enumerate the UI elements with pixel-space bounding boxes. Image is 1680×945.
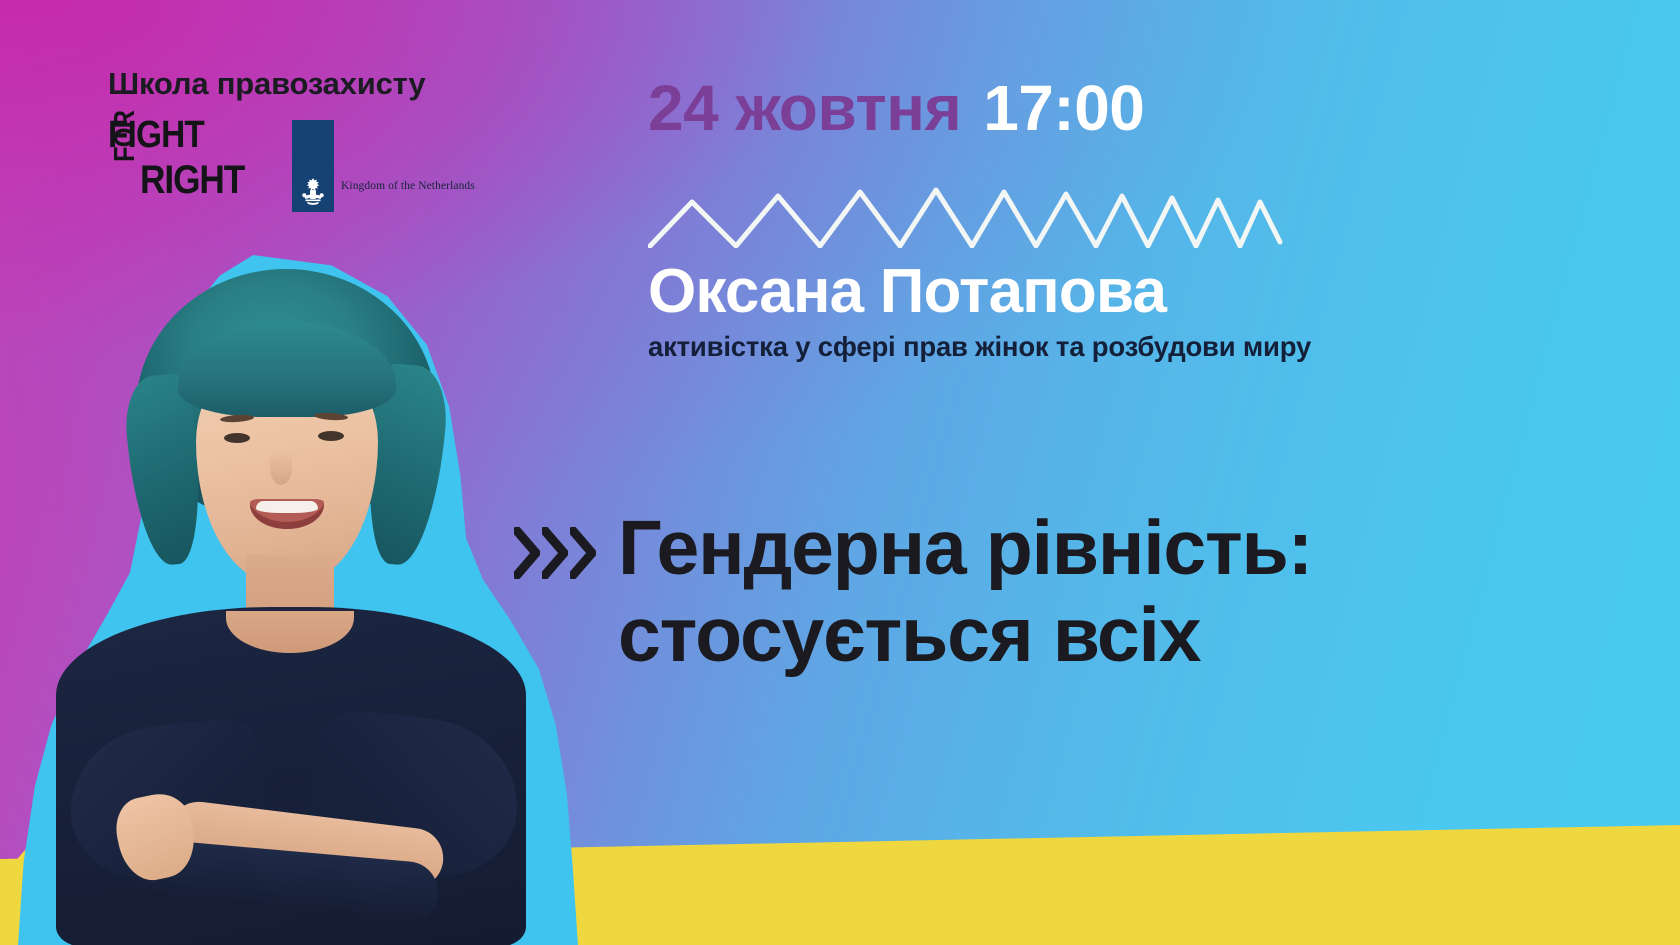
headline-line-2: стосується всіх	[618, 592, 1312, 679]
event-date: 24 жовтня	[648, 72, 961, 144]
speaker-photo	[18, 255, 578, 945]
wave-line-icon	[648, 162, 1288, 248]
logo-word-for: FOR	[111, 111, 140, 162]
event-info-column: 24 жовтня17:00 Оксана Потапова активістк…	[648, 0, 1548, 363]
chevron-right-icon	[514, 527, 540, 579]
promo-poster: Школа правозахисту FIGHT FOR RIGHT	[0, 0, 1680, 945]
wave-divider	[648, 162, 1288, 248]
netherlands-blue-bar	[292, 120, 334, 212]
logo-row: FIGHT FOR RIGHT	[108, 116, 578, 212]
event-datetime: 24 жовтня17:00	[648, 76, 1548, 140]
speaker-role: активістка у сфері прав жінок та розбудо…	[648, 331, 1548, 363]
netherlands-crest-icon	[298, 176, 328, 206]
chevrons-marker	[514, 527, 596, 579]
netherlands-logo: Kingdom of the Netherlands	[292, 120, 475, 212]
chevron-right-icon	[570, 527, 596, 579]
netherlands-label: Kingdom of the Netherlands	[341, 180, 475, 192]
logo-word-right: RIGHT	[140, 160, 244, 200]
branding-block: Школа правозахисту FIGHT FOR RIGHT	[108, 66, 578, 212]
eye-left	[224, 433, 250, 443]
headline-text: Гендерна рівність: стосується всіх	[618, 505, 1312, 679]
nose-shape	[270, 451, 292, 485]
speaker-name: Оксана Потапова	[648, 260, 1548, 323]
chevron-right-icon	[542, 527, 568, 579]
headline-line-1: Гендерна рівність:	[618, 505, 1312, 591]
teeth	[256, 501, 318, 513]
fight-for-right-logo: FIGHT FOR RIGHT	[108, 116, 258, 211]
school-title: Школа правозахисту	[108, 66, 578, 102]
event-time: 17:00	[983, 72, 1144, 144]
headline-block: Гендерна рівність: стосується всіх	[514, 505, 1614, 679]
eye-right	[318, 431, 344, 441]
